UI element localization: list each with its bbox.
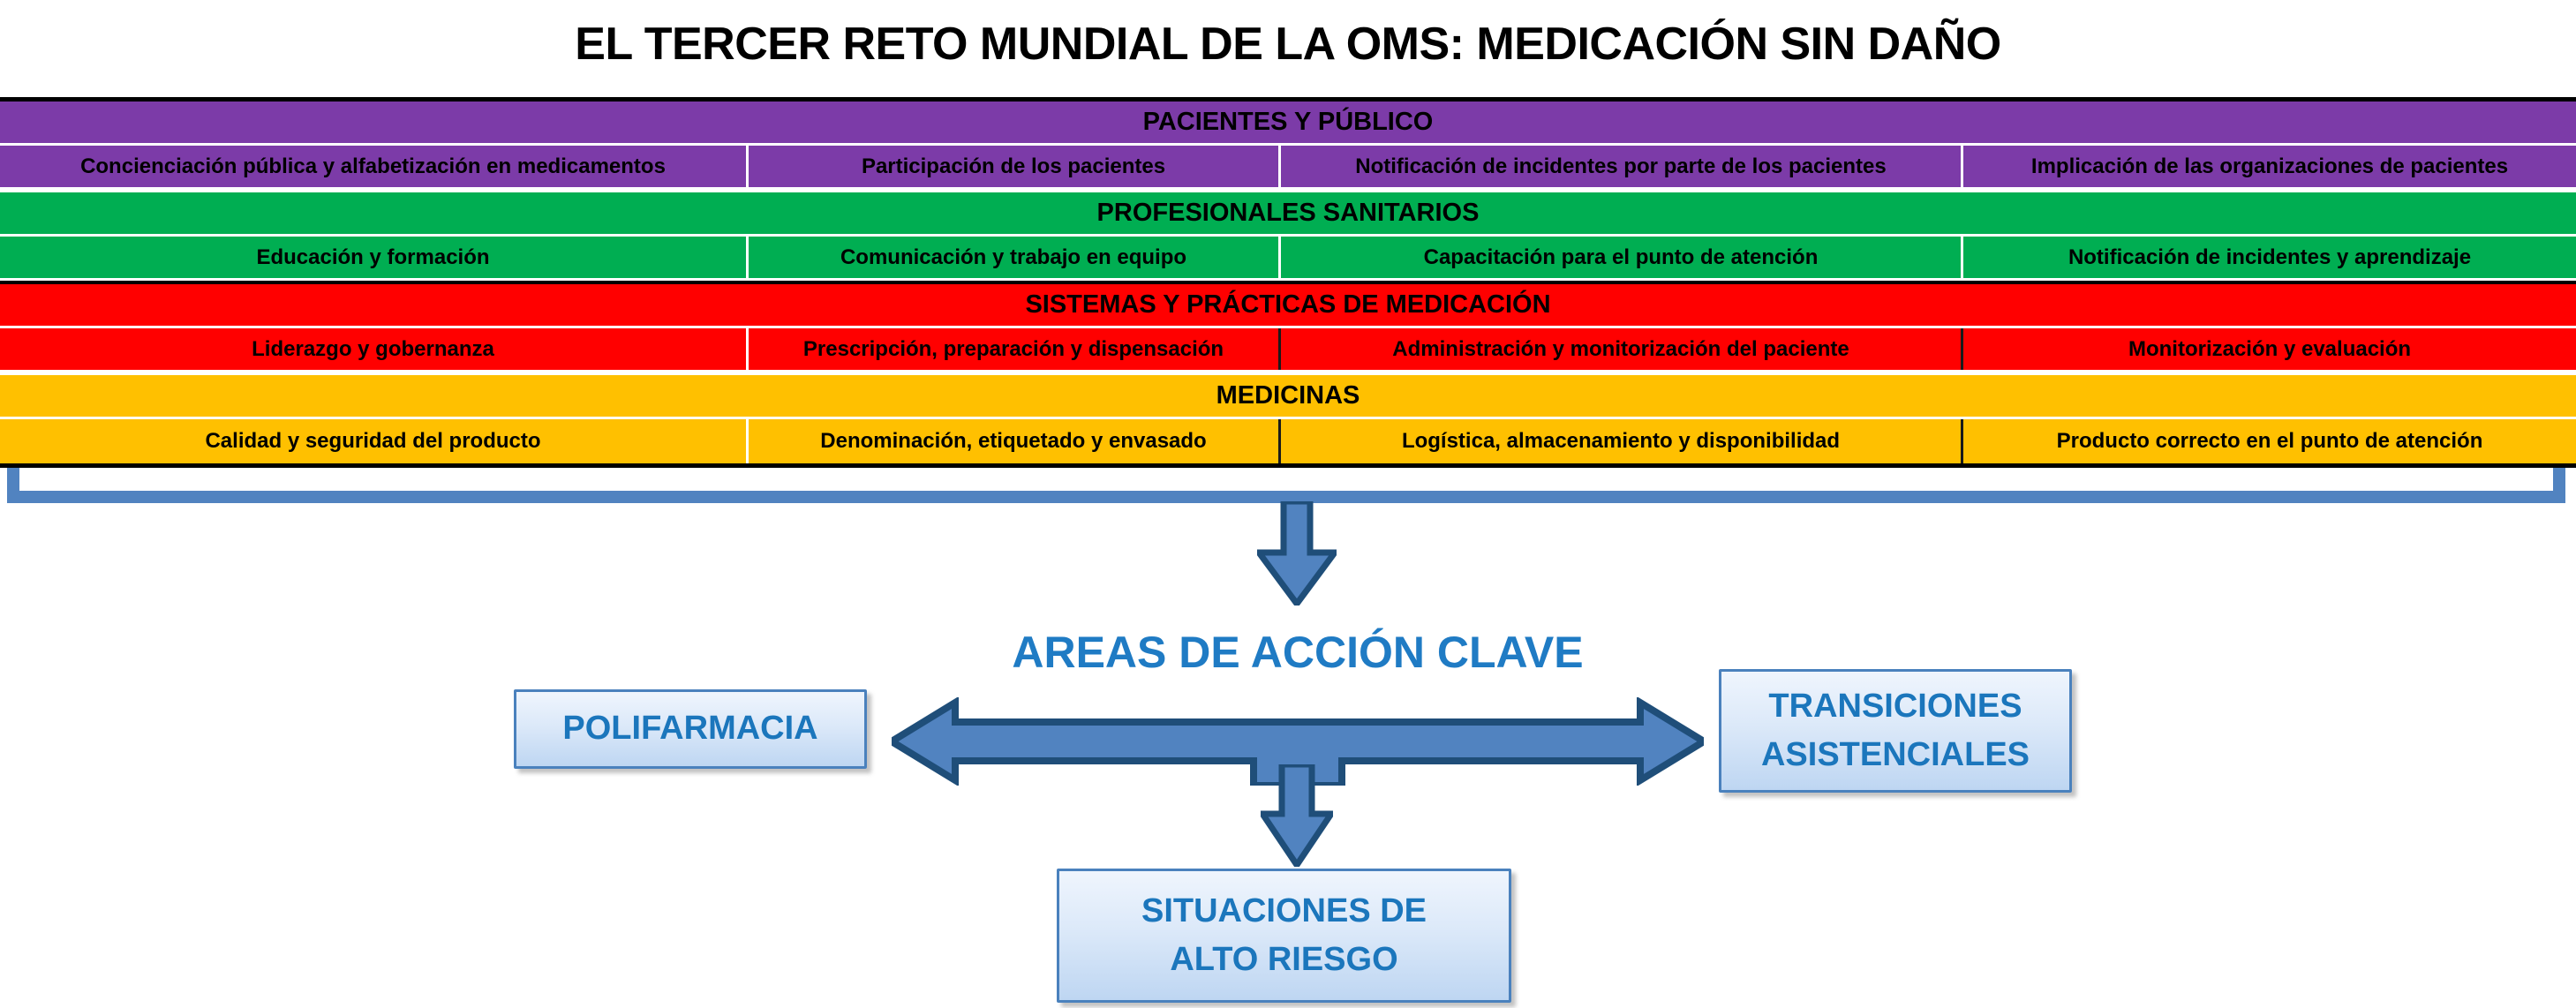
key-area-situaciones-line1: SITUACIONES DE [1141,887,1427,936]
key-areas-label: AREAS DE ACCIÓN CLAVE [909,627,1686,678]
cell-profesionales-3[interactable]: Notificación de incidentes y aprendizaje [1963,237,2576,278]
cell-pacientes-0[interactable]: Concienciación pública y alfabetización … [0,146,749,187]
band-medicinas: MEDICINAS Calidad y seguridad del produc… [0,372,2576,463]
cell-medicinas-1[interactable]: Denominación, etiquetado y envasado [749,419,1281,463]
cell-medicinas-3[interactable]: Producto correcto en el punto de atenció… [1963,419,2576,463]
key-area-box-situaciones[interactable]: SITUACIONES DE ALTO RIESGO [1057,869,1511,1003]
band-sistemas: SISTEMAS Y PRÁCTICAS DE MEDICACIÓN Lider… [0,281,2576,372]
cell-pacientes-2[interactable]: Notificación de incidentes por parte de … [1281,146,1963,187]
cell-profesionales-1[interactable]: Comunicación y trabajo en equipo [749,237,1281,278]
key-area-transiciones-line2: ASISTENCIALES [1761,731,2030,779]
cell-sistemas-2[interactable]: Administración y monitorización del paci… [1281,328,1963,370]
key-area-box-transiciones[interactable]: TRANSICIONES ASISTENCIALES [1719,669,2072,793]
arrow-down-icon [1257,501,1337,606]
key-area-transiciones-line1: TRANSICIONES [1768,682,2022,731]
band-header-pacientes: PACIENTES Y PÚBLICO [0,102,2576,146]
diagram-root: EL TERCER RETO MUNDIAL DE LA OMS: MEDICA… [0,0,2576,1008]
band-row-profesionales: Educación y formación Comunicación y tra… [0,237,2576,281]
cell-medicinas-0[interactable]: Calidad y seguridad del producto [0,419,749,463]
cell-sistemas-0[interactable]: Liderazgo y gobernanza [0,328,749,370]
cell-sistemas-1[interactable]: Prescripción, preparación y dispensación [749,328,1281,370]
band-row-sistemas: Liderazgo y gobernanza Prescripción, pre… [0,328,2576,372]
band-row-pacientes: Concienciación pública y alfabetización … [0,146,2576,190]
band-profesionales: PROFESIONALES SANITARIOS Educación y for… [0,190,2576,281]
cell-pacientes-1[interactable]: Participación de los pacientes [749,146,1281,187]
strategic-framework-matrix: PACIENTES Y PÚBLICO Concienciación públi… [0,97,2576,468]
band-header-medicinas: MEDICINAS [0,375,2576,419]
band-pacientes: PACIENTES Y PÚBLICO Concienciación públi… [0,102,2576,190]
band-header-sistemas: SISTEMAS Y PRÁCTICAS DE MEDICACIÓN [0,284,2576,328]
bracket-connector [7,468,2565,503]
page-title: EL TERCER RETO MUNDIAL DE LA OMS: MEDICA… [0,0,2576,88]
cell-medicinas-2[interactable]: Logística, almacenamiento y disponibilid… [1281,419,1963,463]
cell-profesionales-0[interactable]: Educación y formación [0,237,749,278]
key-area-polifarmacia-line1: POLIFARMACIA [562,704,817,753]
cell-profesionales-2[interactable]: Capacitación para el punto de atención [1281,237,1963,278]
key-area-situaciones-line2: ALTO RIESGO [1170,936,1397,984]
arrow-down-bottom-icon [1261,764,1333,867]
band-header-profesionales: PROFESIONALES SANITARIOS [0,192,2576,237]
bracket-right-stub [2553,468,2565,503]
key-area-box-polifarmacia[interactable]: POLIFARMACIA [514,689,867,769]
cell-sistemas-3[interactable]: Monitorización y evaluación [1963,328,2576,370]
band-row-medicinas: Calidad y seguridad del producto Denomin… [0,419,2576,463]
cell-pacientes-3[interactable]: Implicación de las organizaciones de pac… [1963,146,2576,187]
